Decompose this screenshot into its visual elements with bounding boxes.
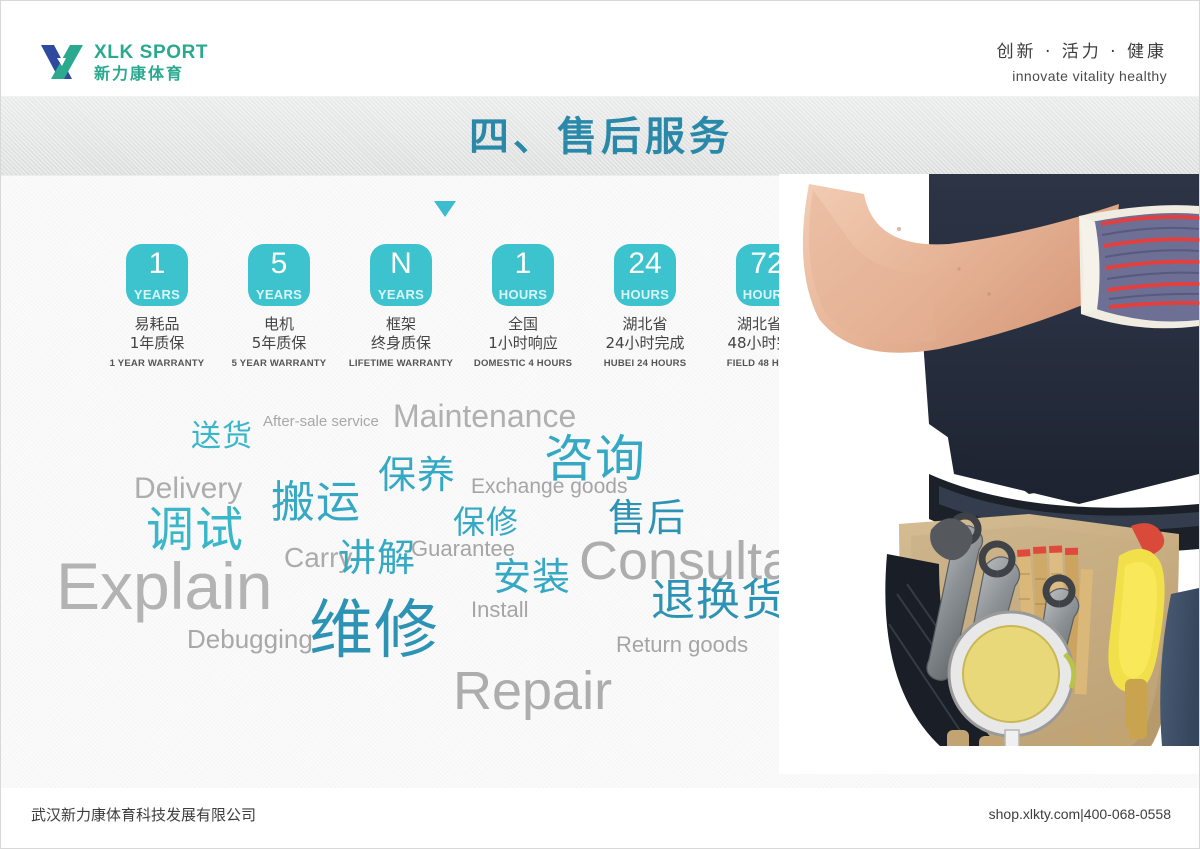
badge-number: 1 (126, 247, 188, 281)
word-cloud-term: 送货 (191, 422, 253, 452)
word-cloud-term: Maintenance (393, 400, 576, 432)
warranty-badge: 1HOURS全国1小时响应DOMESTIC 4 HOURS (465, 244, 581, 369)
badge-number: 5 (248, 247, 310, 281)
badge-caption-en: LIFETIME WARRANTY (343, 358, 459, 369)
warranty-badge-row: 1YEARS易耗品1年质保1 YEAR WARRANTY5YEARS电机5年质保… (99, 244, 799, 374)
page-title: 四、售后服务 (1, 104, 1200, 162)
word-cloud-term: Explain (56, 553, 272, 619)
word-cloud-term: 维修 (309, 599, 439, 663)
service-word-cloud: 送货After-sale serviceMaintenance咨询Deliver… (1, 386, 841, 726)
word-cloud-term: Debugging (187, 626, 313, 652)
word-cloud-term: 保修 (453, 506, 519, 538)
badge-caption: 全国1小时响应 (465, 315, 581, 353)
warranty-badge: 1YEARS易耗品1年质保1 YEAR WARRANTY (99, 244, 215, 369)
word-cloud-term: 保养 (378, 456, 456, 494)
badge-unit: HOURS (492, 288, 554, 302)
badge-unit: HOURS (614, 288, 676, 302)
word-cloud-term: Exchange goods (471, 476, 627, 497)
header-bar: XLK SPORT 新力康体育 创新 · 活力 · 健康 innovate vi… (1, 1, 1200, 96)
technician-photo (779, 174, 1199, 774)
badge-caption: 框架终身质保 (343, 315, 459, 353)
word-cloud-term: 搬运 (271, 481, 361, 525)
word-cloud-term: Return goods (616, 634, 748, 656)
badge-caption-line1: 全国 (465, 315, 581, 334)
footer-company: 武汉新力康体育科技发展有限公司 (31, 804, 256, 825)
badge-caption-line1: 易耗品 (99, 315, 215, 334)
badge-chip: 1YEARS (126, 244, 188, 306)
badge-chip: 24HOURS (614, 244, 676, 306)
tagline-en: innovate vitality healthy (997, 68, 1167, 84)
warranty-badge: 5YEARS电机5年质保5 YEAR WARRANTY (221, 244, 337, 369)
badge-caption-line1: 湖北省 (587, 315, 703, 334)
badge-number: N (370, 247, 432, 281)
badge-caption: 电机5年质保 (221, 315, 337, 353)
footer-bar: 武汉新力康体育科技发展有限公司 shop.xlkty.com|400-068-0… (1, 788, 1200, 848)
word-cloud-term: 退换货 (651, 579, 786, 623)
badge-caption-en: DOMESTIC 4 HOURS (465, 358, 581, 369)
footer-contact[interactable]: shop.xlkty.com|400-068-0558 (989, 806, 1171, 822)
badge-caption: 湖北省24小时完成 (587, 315, 703, 353)
warranty-badge: NYEARS框架终身质保LIFETIME WARRANTY (343, 244, 459, 369)
badge-unit: YEARS (126, 288, 188, 302)
badge-unit: YEARS (370, 288, 432, 302)
badge-caption: 易耗品1年质保 (99, 315, 215, 353)
badge-caption-line2: 1年质保 (99, 334, 215, 353)
badge-unit: YEARS (248, 288, 310, 302)
brand-logo[interactable]: XLK SPORT 新力康体育 (39, 39, 208, 85)
badge-caption-line2: 终身质保 (343, 334, 459, 353)
badge-number: 1 (492, 247, 554, 281)
down-triangle-icon (434, 201, 456, 217)
tagline: 创新 · 活力 · 健康 innovate vitality healthy (997, 37, 1167, 84)
x-monogram-icon (39, 39, 85, 85)
warranty-badge: 24HOURS湖北省24小时完成HUBEI 24 HOURS (587, 244, 703, 369)
badge-caption-line2: 5年质保 (221, 334, 337, 353)
word-cloud-term: After-sale service (263, 414, 379, 429)
logo-text-en: XLK SPORT (94, 43, 208, 62)
word-cloud-term: Install (471, 599, 528, 621)
badge-caption-en: HUBEI 24 HOURS (587, 358, 703, 369)
badge-caption-line1: 框架 (343, 315, 459, 334)
badge-caption-en: 1 YEAR WARRANTY (99, 358, 215, 369)
badge-number: 24 (614, 247, 676, 281)
badge-caption-en: 5 YEAR WARRANTY (221, 358, 337, 369)
word-cloud-term: 讲解 (338, 539, 416, 577)
badge-chip: 1HOURS (492, 244, 554, 306)
word-cloud-term: Delivery (134, 474, 242, 504)
badge-caption-line2: 24小时完成 (587, 334, 703, 353)
tagline-cn: 创新 · 活力 · 健康 (997, 37, 1167, 62)
logo-text-cn: 新力康体育 (94, 66, 208, 82)
word-cloud-term: 安装 (493, 558, 571, 596)
badge-caption-line1: 电机 (221, 315, 337, 334)
slide-page: XLK SPORT 新力康体育 创新 · 活力 · 健康 innovate vi… (0, 0, 1200, 849)
badge-caption-line2: 1小时响应 (465, 334, 581, 353)
badge-chip: 5YEARS (248, 244, 310, 306)
badge-chip: NYEARS (370, 244, 432, 306)
word-cloud-term: Repair (453, 664, 612, 718)
word-cloud-term: 调试 (146, 506, 244, 554)
